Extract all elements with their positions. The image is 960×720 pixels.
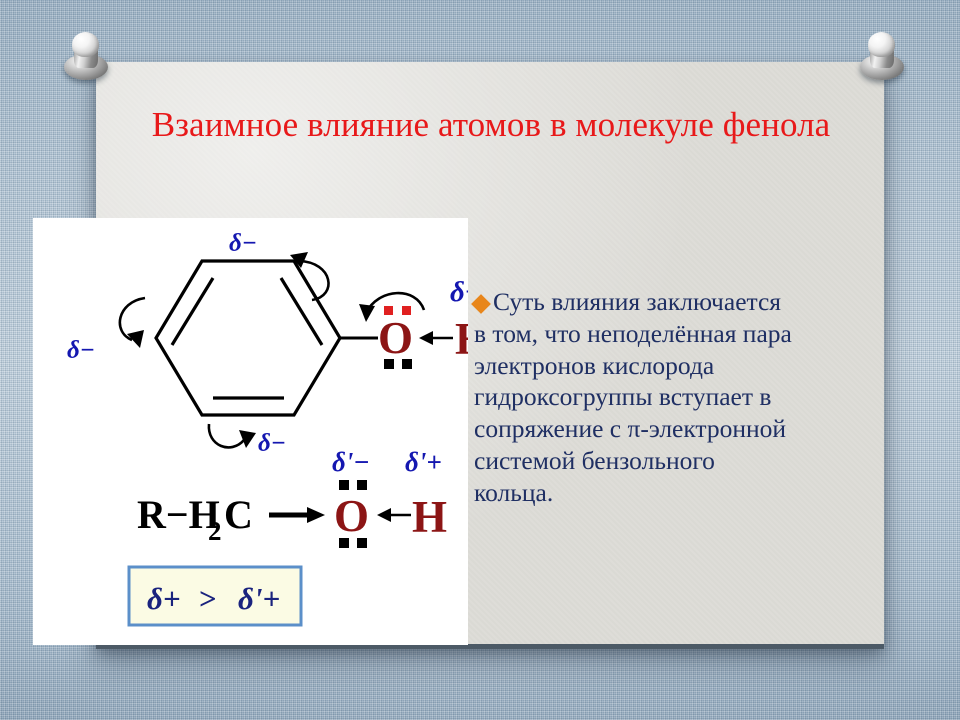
delta-prime-minus-label: δ'− [332, 447, 370, 477]
delta-label-left: δ− [67, 337, 95, 364]
phenol-diagram-svg: δ− δ− δ− O H δ+ [33, 218, 468, 645]
oxygen-atom-bottom: O [334, 491, 369, 541]
delta-prime-plus-label: δ'+ [405, 447, 442, 477]
bullet-diamond-icon [471, 294, 491, 314]
comparison-left-term: δ+ [147, 581, 181, 616]
lone-pair-dot-black [357, 538, 367, 548]
lone-pair-dot-black [339, 480, 349, 490]
body-text-block: Суть влияния заключается в том, что непо… [474, 286, 796, 509]
hydrogen-atom-top: H [455, 314, 468, 364]
carbon-group-tail-label: C [224, 492, 253, 537]
lone-pair-dot-black [402, 359, 412, 369]
comparison-operator: > [199, 581, 217, 616]
delta-plus-label-top: δ+ [450, 276, 468, 308]
slide-background: Взаимное влияние атомов в молекуле фенол… [0, 0, 960, 720]
pin-head [72, 32, 99, 57]
lone-pair-dot-black [339, 538, 349, 548]
arrow-h-to-o-bottom [377, 508, 411, 522]
alcohol-structure: R−H 2 C [137, 492, 325, 546]
delta-label-bottom: δ− [258, 430, 286, 457]
pin-head [868, 32, 895, 57]
lone-pair-dot-black [357, 480, 367, 490]
lone-pair-dot-red [384, 306, 393, 315]
lone-pair-dot-red [402, 306, 411, 315]
carbon-group-subscript: 2 [208, 516, 222, 546]
chemistry-figure-card: δ− δ− δ− O H δ+ [33, 218, 468, 645]
pin-shaft [74, 42, 98, 68]
delta-label-top: δ− [229, 230, 257, 257]
slide-panel: Взаимное влияние атомов в молекуле фенол… [96, 62, 884, 644]
comparison-right-term: δ'+ [238, 581, 280, 616]
hydrogen-atom-bottom: H [412, 492, 447, 542]
page-title: Взаимное влияние атомов в молекуле фенол… [136, 100, 846, 149]
arrow-h-to-o-top [419, 331, 453, 345]
charge-comparison-box: δ+ > δ'+ [129, 567, 301, 625]
oxygen-atom-top: O [378, 313, 413, 363]
lone-pair-dot-black [384, 359, 394, 369]
benzene-ring [156, 261, 340, 415]
body-text: Суть влияния заключается в том, что непо… [474, 287, 792, 507]
